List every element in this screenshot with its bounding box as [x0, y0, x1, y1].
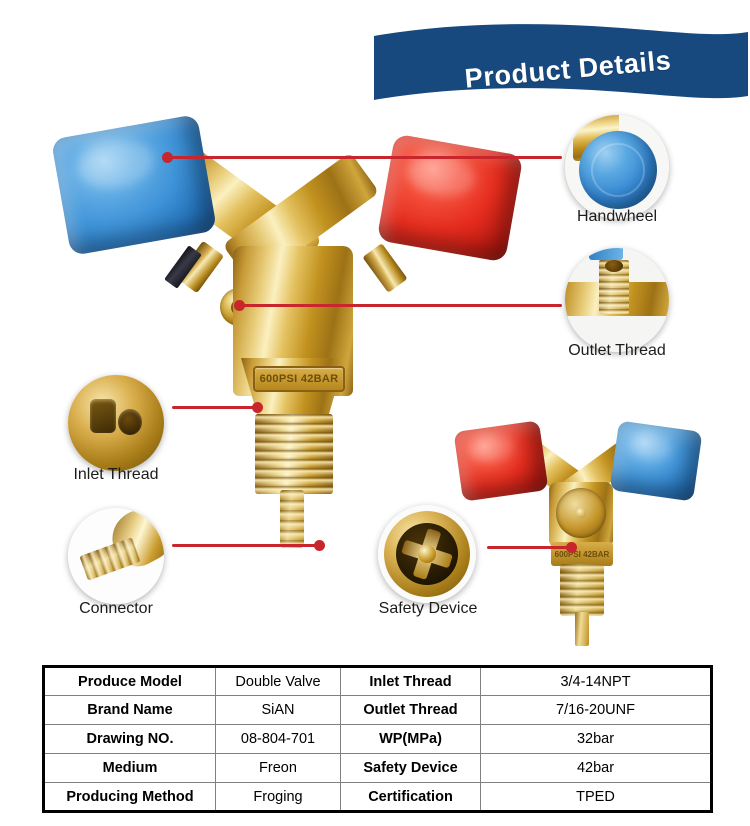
- table-cell-key: Outlet Thread: [341, 696, 481, 725]
- table-row: Producing Method Froging Certification T…: [44, 783, 712, 812]
- hose-barb-connector: [280, 490, 304, 548]
- product-photo-stage: 600PSI 42BAR 600PSI 42BAR: [0, 0, 750, 658]
- table-cell-value: 3/4-14NPT: [481, 667, 712, 696]
- main-valve-photo: 600PSI 42BAR: [55, 118, 475, 568]
- valve-collar-right: [362, 243, 407, 293]
- inlet-thread-icon: [68, 375, 164, 471]
- table-cell-value: 32bar: [481, 725, 712, 754]
- table-row: Brand Name SiAN Outlet Thread 7/16-20UNF: [44, 696, 712, 725]
- table-cell-value: 7/16-20UNF: [481, 696, 712, 725]
- table-cell-value: SiAN: [216, 696, 341, 725]
- secondary-inlet-stem: [560, 564, 604, 616]
- secondary-hose-barb: [575, 612, 589, 646]
- table-cell-key: Producing Method: [44, 783, 216, 812]
- valve-emboss-plate: 600PSI 42BAR: [253, 366, 345, 392]
- safety-device-pin: [418, 545, 436, 563]
- handwheel-blue: [51, 114, 217, 256]
- inlet-threaded-stem: [255, 414, 333, 494]
- inset-label-inlet-thread: Inlet Thread: [56, 466, 176, 484]
- secondary-handwheel-red: [454, 420, 549, 501]
- secondary-handwheel-blue: [610, 420, 703, 501]
- table-cell-value: Double Valve: [216, 667, 341, 696]
- table-cell-key: Safety Device: [341, 754, 481, 783]
- safety-device-center-pin: [576, 508, 586, 518]
- inset-label-connector: Connector: [60, 600, 172, 618]
- outlet-thread-bore: [605, 260, 623, 272]
- handwheel-ring: [591, 143, 645, 197]
- callout-dot-inlet-thread: [252, 402, 263, 413]
- inlet-bore-left: [90, 399, 116, 433]
- table-cell-key: Produce Model: [44, 667, 216, 696]
- table-cell-value: TPED: [481, 783, 712, 812]
- table-cell-key: WP(MPa): [341, 725, 481, 754]
- callout-line-safety-device: [487, 546, 571, 549]
- callout-dot-connector: [314, 540, 325, 551]
- table-cell-key: Inlet Thread: [341, 667, 481, 696]
- handwheel-knob-icon: [579, 131, 657, 209]
- table-cell-key: Medium: [44, 754, 216, 783]
- safety-device-icon: [384, 511, 470, 597]
- callout-line-handwheel: [170, 156, 562, 159]
- table-row: Drawing NO. 08-804-701 WP(MPa) 32bar: [44, 725, 712, 754]
- table-cell-key: Drawing NO.: [44, 725, 216, 754]
- inlet-bore-right: [118, 409, 142, 435]
- inset-inlet-thread: [68, 375, 164, 471]
- outlet-thread-blue-hint: [589, 248, 623, 260]
- table-cell-key: Brand Name: [44, 696, 216, 725]
- inset-label-handwheel: Handwheel: [557, 208, 677, 226]
- inset-safety-device: [378, 505, 476, 603]
- callout-line-connector: [172, 544, 318, 547]
- inset-outlet-thread: [565, 248, 669, 352]
- table-cell-value: 08-804-701: [216, 725, 341, 754]
- inset-label-outlet-thread: Outlet Thread: [551, 342, 683, 360]
- table-cell-key: Certification: [341, 783, 481, 812]
- inset-connector: [68, 508, 164, 604]
- callout-dot-safety-device: [566, 542, 577, 553]
- inset-handwheel: [565, 115, 669, 219]
- safety-device-valve: [556, 488, 606, 538]
- table-cell-value: 42bar: [481, 754, 712, 783]
- table-cell-value: Froging: [216, 783, 341, 812]
- table-cell-value: Freon: [216, 754, 341, 783]
- spec-table: Produce Model Double Valve Inlet Thread …: [42, 665, 713, 813]
- handwheel-red: [377, 134, 524, 263]
- inset-label-safety-device: Safety Device: [358, 600, 498, 618]
- callout-line-inlet-thread: [172, 406, 256, 409]
- product-details-page: Product Details 600PSI 42BAR: [0, 0, 750, 826]
- callout-line-outlet-thread: [242, 304, 562, 307]
- table-row: Produce Model Double Valve Inlet Thread …: [44, 667, 712, 696]
- table-row: Medium Freon Safety Device 42bar: [44, 754, 712, 783]
